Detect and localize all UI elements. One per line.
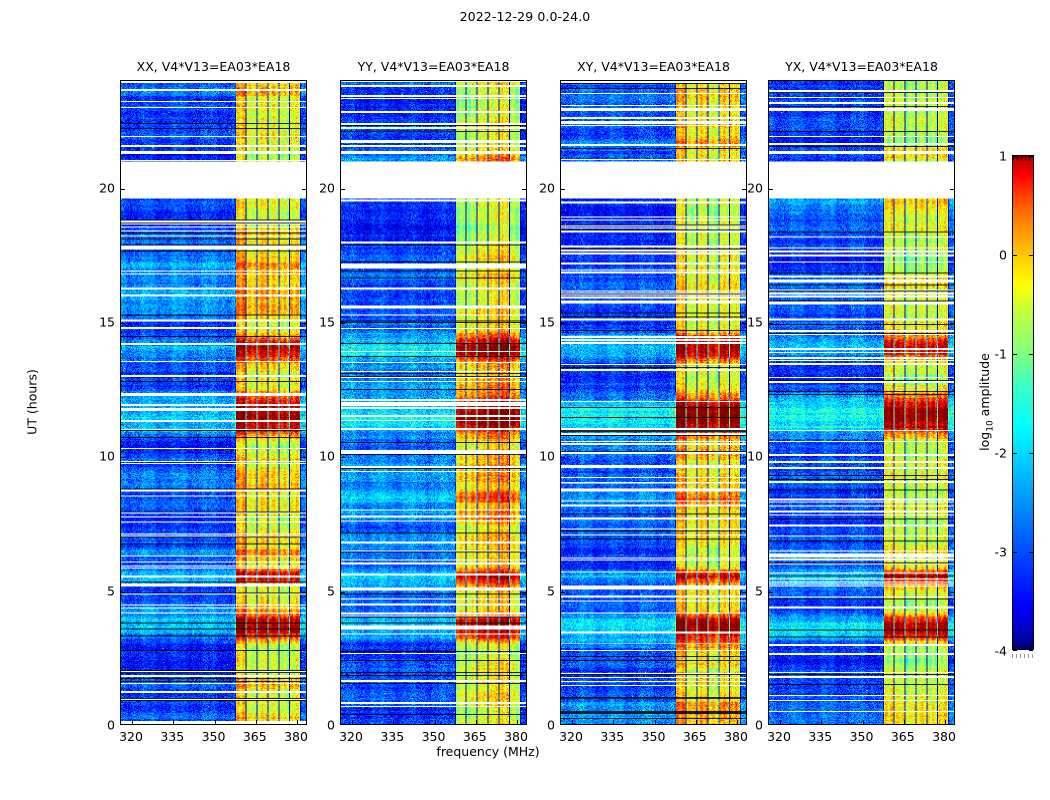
panel-xx[interactable]: XX, V4*V13=EA03*EA18 3203353503653800510… [120, 80, 307, 725]
axes-frame-yx[interactable] [768, 80, 955, 725]
figure-suptitle: 2022-12-29 0.0-24.0 [0, 9, 1050, 24]
panel-title-xy: XY, V4*V13=EA03*EA18 [577, 59, 730, 74]
y-tick-mark-right [742, 189, 746, 190]
x-tick-mark [173, 720, 174, 724]
y-tick-mark [121, 592, 125, 593]
y-tick-label: 0 [755, 718, 763, 733]
x-tick-mark [945, 720, 946, 724]
y-tick-label: 10 [747, 449, 763, 464]
y-tick-mark [561, 189, 565, 190]
y-tick-mark [561, 457, 565, 458]
y-tick-label: 0 [327, 718, 335, 733]
y-tick-label: 15 [539, 314, 555, 329]
panel-yy[interactable]: YY, V4*V13=EA03*EA18 3203353503653800510… [340, 80, 527, 725]
x-tick-mark [613, 720, 614, 724]
x-tick-mark [904, 720, 905, 724]
colorbar-tick-mark [1029, 255, 1033, 256]
colorbar-tick-mark-left [1013, 354, 1017, 355]
x-tick-mark [821, 720, 822, 724]
dynamic-spectrum-xx [121, 81, 306, 724]
x-tick-mark [737, 720, 738, 724]
y-tick-label: 10 [99, 449, 115, 464]
panel-title-xx: XX, V4*V13=EA03*EA18 [137, 59, 291, 74]
y-tick-mark [341, 592, 345, 593]
y-tick-label: 5 [547, 583, 555, 598]
y-tick-label: 5 [755, 583, 763, 598]
x-tick-mark [476, 720, 477, 724]
x-tick-label: 350 [202, 729, 226, 744]
x-tick-mark [655, 720, 656, 724]
x-tick-label: 335 [160, 729, 184, 744]
y-tick-mark [769, 189, 773, 190]
x-tick-label: 335 [380, 729, 404, 744]
y-tick-mark-right [522, 323, 526, 324]
colorbar-tick-label: 1 [999, 149, 1007, 164]
y-tick-mark-right [742, 323, 746, 324]
colorbar[interactable]: 10-1-2-3-4 [1012, 155, 1034, 650]
x-tick-label: 380 [284, 729, 308, 744]
colorbar-tick-mark [1029, 552, 1033, 553]
x-tick-mark [132, 720, 133, 724]
y-tick-mark [769, 457, 773, 458]
x-tick-mark [393, 720, 394, 724]
figure-canvas: 2022-12-29 0.0-24.0 XX, V4*V13=EA03*EA18… [0, 0, 1050, 800]
x-tick-label: 365 [683, 729, 707, 744]
y-tick-mark-right [950, 592, 954, 593]
y-tick-mark-right [950, 189, 954, 190]
y-tick-mark-right [742, 457, 746, 458]
y-tick-mark [769, 323, 773, 324]
y-tick-label: 5 [327, 583, 335, 598]
y-tick-mark-right [522, 189, 526, 190]
colorbar-tick-mark-left [1013, 650, 1017, 651]
y-tick-label: 10 [319, 449, 335, 464]
y-tick-mark [341, 323, 345, 324]
x-tick-mark [780, 720, 781, 724]
panel-title-yy: YY, V4*V13=EA03*EA18 [358, 59, 510, 74]
x-tick-label: 380 [724, 729, 748, 744]
y-tick-mark [341, 189, 345, 190]
y-tick-label: 15 [319, 314, 335, 329]
y-tick-label: 20 [539, 180, 555, 195]
x-tick-mark [352, 720, 353, 724]
y-tick-label: 0 [547, 718, 555, 733]
colorbar-tick-label: -2 [995, 446, 1007, 461]
y-tick-label: 10 [539, 449, 555, 464]
colorbar-under-marker [1013, 644, 1033, 649]
x-axis-label: frequency (MHz) [436, 744, 539, 759]
y-tick-mark [561, 592, 565, 593]
y-tick-mark-right [302, 592, 306, 593]
y-tick-mark [121, 457, 125, 458]
x-tick-label: 350 [850, 729, 874, 744]
colorbar-tick-label: -3 [995, 545, 1007, 560]
y-tick-label: 0 [107, 718, 115, 733]
y-tick-label: 20 [99, 180, 115, 195]
x-tick-label: 350 [642, 729, 666, 744]
x-tick-label: 335 [808, 729, 832, 744]
y-tick-mark-right [302, 189, 306, 190]
x-tick-mark [696, 720, 697, 724]
colorbar-tick-mark [1029, 453, 1033, 454]
y-tick-mark [561, 323, 565, 324]
panel-title-yx: YX, V4*V13=EA03*EA18 [785, 59, 938, 74]
colorbar-tick-mark-left [1013, 255, 1017, 256]
colorbar-tick-label: -4 [995, 644, 1007, 659]
y-tick-label: 20 [319, 180, 335, 195]
axes-frame-xx[interactable] [120, 80, 307, 725]
x-tick-label: 350 [422, 729, 446, 744]
panel-xy[interactable]: XY, V4*V13=EA03*EA18 3203353503653800510… [560, 80, 747, 725]
colorbar-tick-mark-left [1013, 552, 1017, 553]
y-tick-label: 5 [107, 583, 115, 598]
y-tick-mark-right [950, 457, 954, 458]
panel-yx[interactable]: YX, V4*V13=EA03*EA18 3203353503653800510… [768, 80, 955, 725]
dynamic-spectrum-yy [341, 81, 526, 724]
x-tick-label: 320 [559, 729, 583, 744]
x-tick-mark [517, 720, 518, 724]
x-tick-label: 365 [243, 729, 267, 744]
x-tick-label: 335 [600, 729, 624, 744]
y-tick-mark [769, 592, 773, 593]
y-tick-mark-right [302, 323, 306, 324]
y-tick-label: 20 [747, 180, 763, 195]
x-tick-mark [256, 720, 257, 724]
x-tick-label: 320 [339, 729, 363, 744]
y-tick-mark-right [302, 457, 306, 458]
x-tick-label: 365 [891, 729, 915, 744]
dynamic-spectrum-xy [561, 81, 746, 724]
x-tick-label: 365 [463, 729, 487, 744]
y-axis-label: UT (hours) [25, 369, 40, 435]
y-tick-mark-right [522, 457, 526, 458]
y-tick-mark [121, 189, 125, 190]
axes-frame-xy[interactable] [560, 80, 747, 725]
x-tick-mark [435, 720, 436, 724]
x-tick-label: 380 [932, 729, 956, 744]
colorbar-tick-mark-left [1013, 156, 1017, 157]
axes-frame-yy[interactable] [340, 80, 527, 725]
colorbar-tick-mark [1029, 354, 1033, 355]
y-tick-mark-right [742, 592, 746, 593]
colorbar-tick-mark [1029, 156, 1033, 157]
y-tick-mark [341, 457, 345, 458]
dynamic-spectrum-yx [769, 81, 954, 724]
y-tick-label: 15 [99, 314, 115, 329]
x-tick-mark [215, 720, 216, 724]
y-tick-mark [121, 323, 125, 324]
colorbar-tick-mark [1029, 650, 1033, 651]
colorbar-tick-label: 0 [999, 248, 1007, 263]
x-tick-label: 320 [119, 729, 143, 744]
colorbar-tick-label: -1 [995, 347, 1007, 362]
colorbar-under-hatch [1012, 654, 1034, 658]
y-tick-mark-right [522, 592, 526, 593]
x-tick-label: 320 [767, 729, 791, 744]
colorbar-label: log10 amplitude [977, 353, 996, 451]
colorbar-tick-mark-left [1013, 453, 1017, 454]
x-tick-label: 380 [504, 729, 528, 744]
y-tick-label: 15 [747, 314, 763, 329]
x-tick-mark [863, 720, 864, 724]
x-tick-mark [297, 720, 298, 724]
y-tick-mark-right [950, 323, 954, 324]
x-tick-mark [572, 720, 573, 724]
